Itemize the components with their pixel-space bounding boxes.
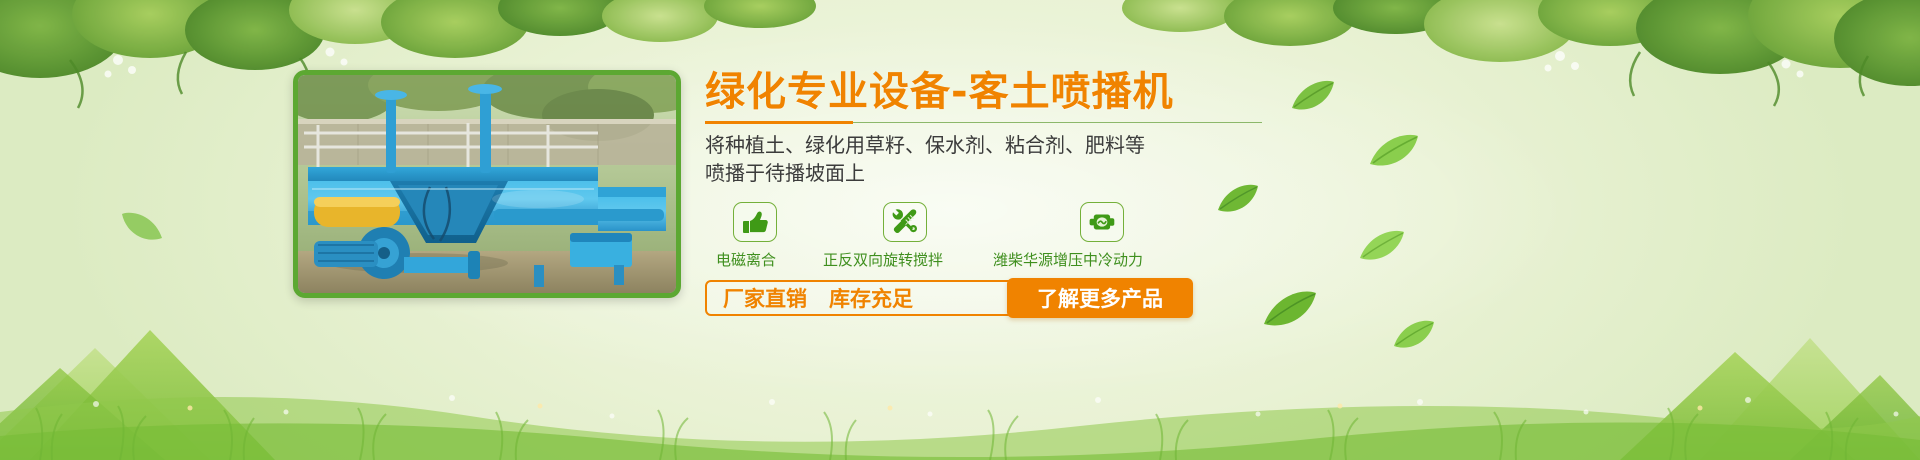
feature-label: 电磁离合 [715,249,777,270]
floating-leaf-icon [120,210,164,244]
tools-wrench-screwdriver-icon [883,202,927,242]
divider-green-segment [853,122,1262,123]
feature-item-clutch[interactable]: 电磁离合 [733,202,777,270]
feature-item-mixing[interactable]: 正反双向旋转搅拌 [867,202,943,270]
subtitle-line-1: 将种植土、绿化用草籽、保水剂、粘合剂、肥料等 [705,131,1305,159]
banner-content: 绿化专业设备-客土喷播机 将种植土、绿化用草籽、保水剂、粘合剂、肥料等 喷播于待… [705,70,1305,316]
floating-leaf-icon [1392,318,1436,352]
banner-subtitle: 将种植土、绿化用草籽、保水剂、粘合剂、肥料等 喷播于待播坡面上 [705,131,1305,188]
title-divider [705,121,1262,124]
floating-leaf-icon [1368,132,1420,170]
grass-foreground-decoration [0,350,1920,460]
feature-list: 电磁离合 正反双向旋转搅拌 [705,202,1305,278]
tagline-stock-ample: 库存充足 [829,283,913,313]
tagline-text-group: 厂家直销 库存充足 [723,280,913,316]
tagline-factory-direct: 厂家直销 [723,283,807,313]
product-photo-image [298,75,676,293]
feature-label: 潍柴华源增压中冷动力 [993,249,1143,270]
product-photo[interactable] [293,70,681,298]
floating-leaf-icon [1358,228,1406,264]
banner-title: 绿化专业设备-客土喷播机 [705,70,1305,115]
clutch-thumb-icon [733,202,777,242]
banner-action-row: 厂家直销 库存充足 了解更多产品 [705,280,1191,316]
subtitle-line-2: 喷播于待播坡面上 [705,159,1305,187]
learn-more-button[interactable]: 了解更多产品 [1007,278,1193,318]
feature-label: 正反双向旋转搅拌 [823,249,943,270]
learn-more-label: 了解更多产品 [1037,283,1163,313]
promo-banner: 绿化专业设备-客土喷播机 将种植土、绿化用草籽、保水剂、粘合剂、肥料等 喷播于待… [0,0,1920,460]
feature-item-engine[interactable]: 潍柴华源增压中冷动力 [1060,202,1143,270]
divider-orange-segment [705,121,853,124]
engine-power-icon [1080,202,1124,242]
